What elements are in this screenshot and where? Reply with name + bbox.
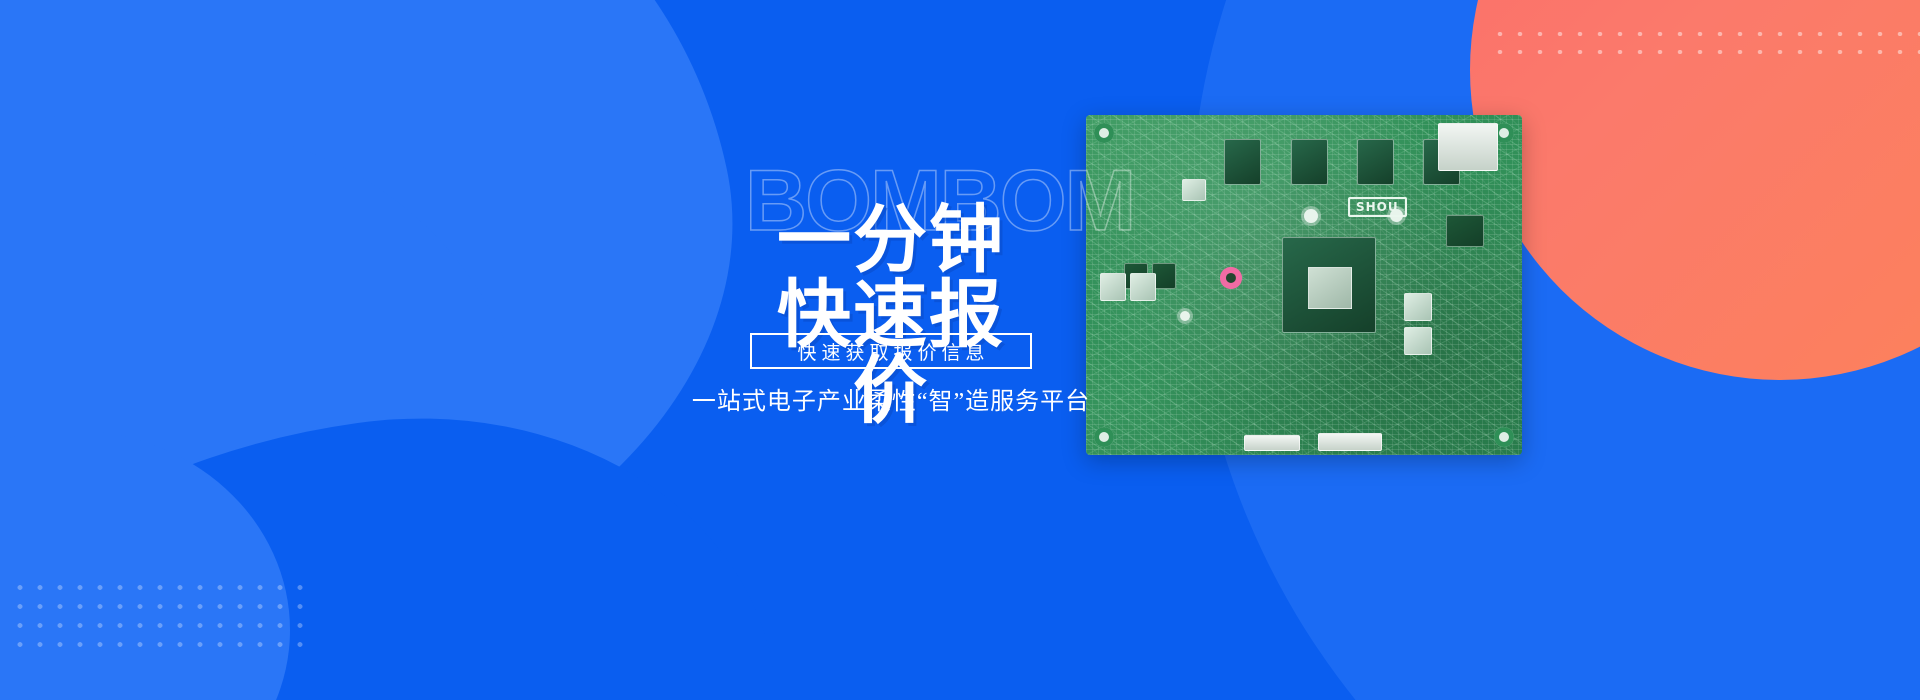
background-decoration [0, 0, 1920, 700]
inductor [1404, 327, 1432, 355]
edge-connector [1318, 433, 1382, 451]
flash-chip [1446, 215, 1484, 247]
processor-die [1308, 267, 1352, 309]
inductor [1100, 273, 1126, 301]
smd-component [1182, 179, 1206, 201]
memory-chip [1224, 139, 1261, 185]
dot-pattern-bottom-left [10, 578, 310, 658]
edge-connector [1244, 435, 1300, 451]
sd-card-slot [1438, 123, 1498, 171]
memory-chip [1291, 139, 1328, 185]
test-pad [1304, 209, 1318, 223]
pcb-substrate: SHOU [1086, 115, 1522, 455]
mount-hole [1094, 427, 1114, 447]
inductor [1130, 273, 1156, 301]
inductor [1404, 293, 1432, 321]
test-pad [1180, 311, 1190, 321]
mount-hole [1494, 427, 1514, 447]
grommet-ring [1220, 267, 1242, 289]
promo-banner: SHOU BOMBOM 一分钟 快速报价 快速获取报价信息 一站式电子产业柔性“… [0, 0, 1920, 700]
board-logo-label: SHOU [1348, 197, 1407, 217]
memory-chip [1357, 139, 1394, 185]
pcb-board-image: SHOU [1086, 115, 1522, 455]
mount-hole [1094, 123, 1114, 143]
dot-pattern-top-right [1490, 25, 1920, 57]
